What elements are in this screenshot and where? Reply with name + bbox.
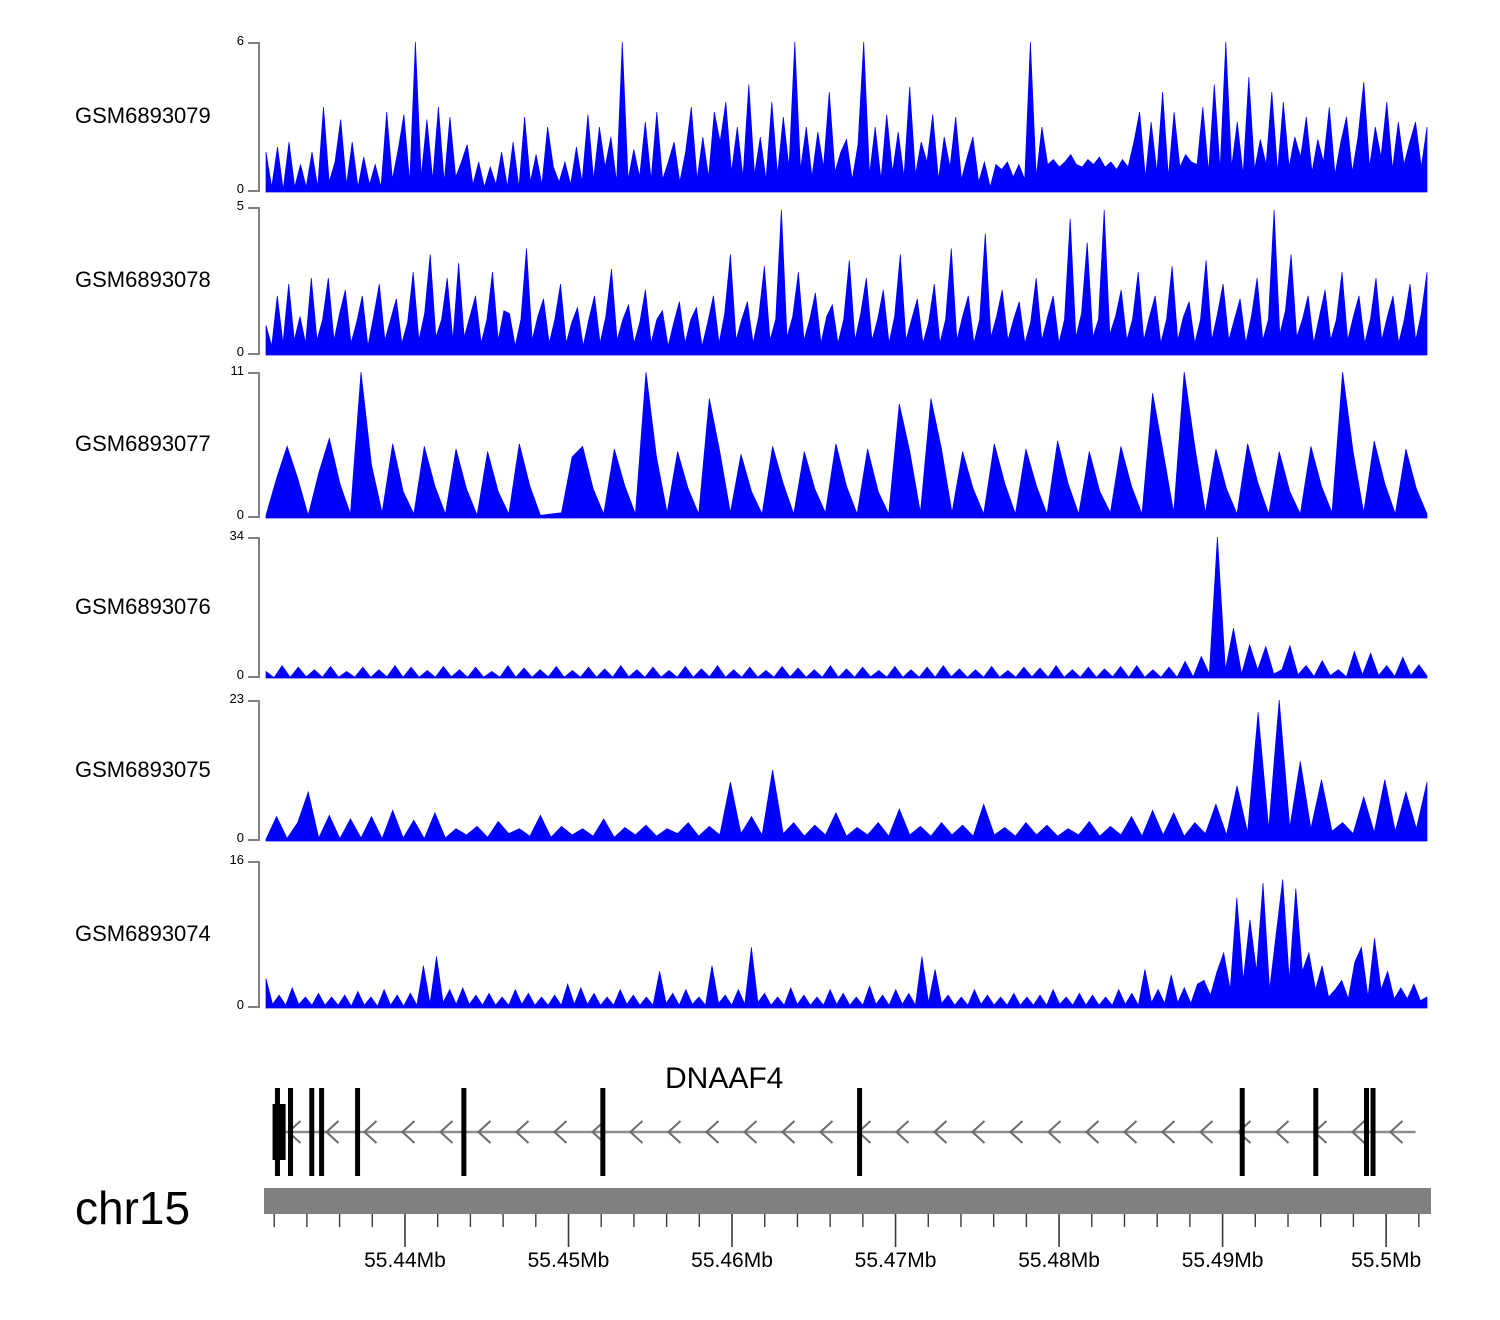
exon-bar	[600, 1088, 605, 1176]
y-axis-min-tick	[248, 353, 260, 355]
y-axis-max-tick	[248, 42, 260, 44]
y-axis-max-tick	[248, 861, 260, 863]
y-axis-min-label: 0	[188, 507, 244, 522]
y-axis-line	[258, 700, 260, 841]
chromosome-axis-track: chr15 55.44Mb55.45Mb55.46Mb55.47Mb55.48M…	[0, 1175, 1500, 1320]
y-axis-min-label: 0	[188, 997, 244, 1012]
exon-bar	[288, 1088, 293, 1176]
axis-ticks-svg	[0, 1175, 1500, 1320]
exon-bar	[1371, 1088, 1376, 1176]
exon-bar	[319, 1088, 324, 1176]
y-axis-min-tick	[248, 839, 260, 841]
axis-tick-label: 55.48Mb	[979, 1249, 1139, 1273]
exon-bar	[1364, 1088, 1369, 1176]
y-axis-max-label: 16	[188, 852, 244, 867]
axis-tick-label: 55.46Mb	[652, 1249, 812, 1273]
track-sample-label: GSM6893074	[75, 921, 211, 947]
y-axis-min-tick	[248, 1006, 260, 1008]
y-axis-line	[258, 372, 260, 518]
track-sample-label: GSM6893077	[75, 431, 211, 457]
genome-browser-figure: GSM689307960GSM689307850GSM6893077110GSM…	[0, 0, 1500, 1320]
axis-tick-label: 55.5Mb	[1306, 1249, 1466, 1273]
exon-bar	[355, 1088, 360, 1176]
y-axis-max-label: 23	[188, 691, 244, 706]
axis-tick-label: 55.45Mb	[489, 1249, 649, 1273]
y-axis-max-label: 34	[188, 528, 244, 543]
exon-bar	[309, 1088, 314, 1176]
y-axis-line	[258, 207, 260, 355]
exon-bar	[1313, 1088, 1318, 1176]
y-axis-min-tick	[248, 676, 260, 678]
exon-bar	[461, 1088, 466, 1176]
y-axis-min-label: 0	[188, 344, 244, 359]
axis-tick-label: 55.44Mb	[325, 1249, 485, 1273]
y-axis-max-label: 5	[188, 198, 244, 213]
y-axis-min-label: 0	[188, 830, 244, 845]
track-sample-label: GSM6893078	[75, 267, 211, 293]
y-axis-min-label: 0	[188, 667, 244, 682]
y-axis-line	[258, 861, 260, 1008]
y-axis-max-tick	[248, 372, 260, 374]
y-axis-line	[258, 537, 260, 678]
y-axis-max-tick	[248, 207, 260, 209]
y-axis-min-tick	[248, 516, 260, 518]
axis-tick-label: 55.47Mb	[816, 1249, 976, 1273]
y-axis-line	[258, 42, 260, 192]
y-axis-min-label: 0	[188, 181, 244, 196]
exon-bar	[275, 1088, 280, 1176]
axis-tick-label: 55.49Mb	[1143, 1249, 1303, 1273]
y-axis-min-tick	[248, 190, 260, 192]
y-axis-max-tick	[248, 700, 260, 702]
exon-bar	[857, 1088, 862, 1176]
track-sample-label: GSM6893075	[75, 757, 211, 783]
exon-bar	[1240, 1088, 1245, 1176]
track-sample-label: GSM6893079	[75, 103, 211, 129]
y-axis-max-label: 6	[188, 33, 244, 48]
y-axis-max-tick	[248, 537, 260, 539]
y-axis-max-label: 11	[188, 363, 244, 378]
track-sample-label: GSM6893076	[75, 594, 211, 620]
